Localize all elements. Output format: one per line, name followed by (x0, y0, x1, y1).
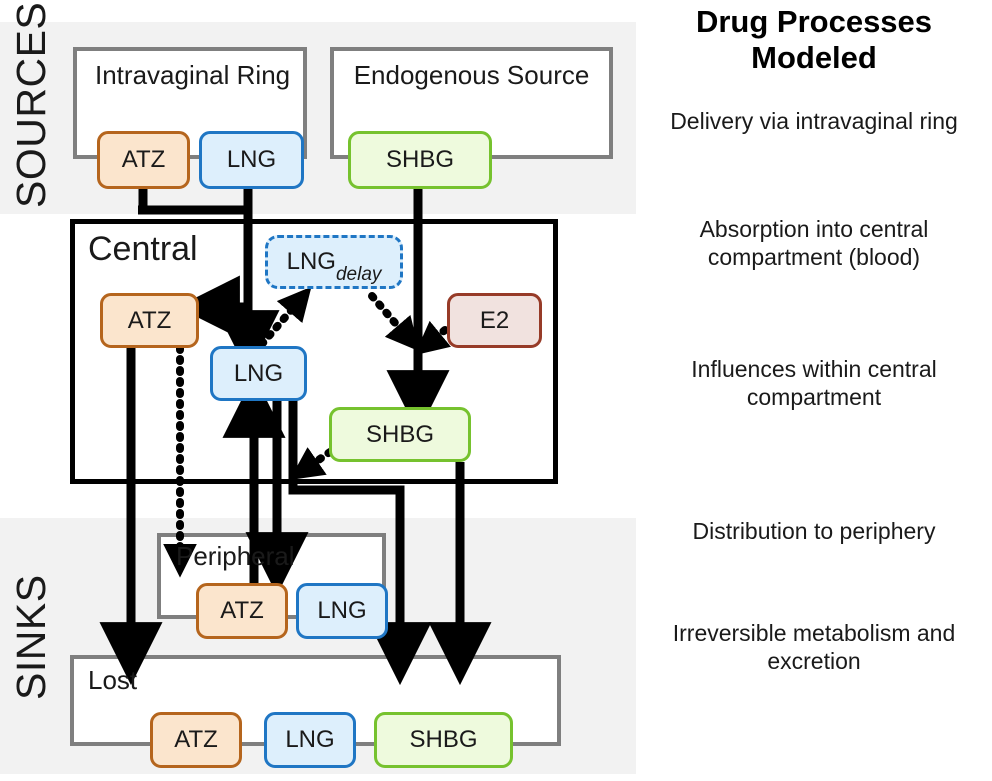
lng-delay-subscript: delay (336, 265, 381, 286)
node-lost-atz[interactable]: ATZ (150, 712, 242, 768)
intravaginal-ring-title: Intravaginal Ring (95, 60, 285, 91)
node-central-lng[interactable]: LNG (210, 346, 307, 401)
caption-absorption: Absorption into central compartment (blo… (636, 216, 992, 271)
diagram-canvas: SOURCES SINKS (0, 0, 992, 781)
lng-delay-base: LNG (287, 250, 336, 274)
node-central-shbg[interactable]: SHBG (329, 407, 471, 462)
node-central-atz[interactable]: ATZ (100, 293, 199, 348)
caption-delivery: Delivery via intravaginal ring (636, 108, 992, 136)
node-central-e2[interactable]: E2 (447, 293, 542, 348)
caption-elimination: Irreversible metabolism and excretion (636, 620, 992, 675)
sinks-band-label: SINKS (8, 574, 55, 700)
endogenous-source-title: Endogenous Source (345, 60, 598, 91)
caption-title: Drug Processes Modeled (642, 4, 986, 75)
sources-band-label: SOURCES (8, 2, 55, 208)
node-lost-lng[interactable]: LNG (264, 712, 356, 768)
peripheral-compartment-title: Peripheral (176, 541, 295, 572)
node-central-lng-delay[interactable]: LNGdelay (265, 235, 403, 289)
node-endogenous-shbg[interactable]: SHBG (348, 131, 492, 189)
caption-distribution: Distribution to periphery (636, 518, 992, 546)
node-lost-shbg[interactable]: SHBG (374, 712, 513, 768)
caption-influences: Influences within central compartment (636, 356, 992, 411)
node-source-atz[interactable]: ATZ (97, 131, 190, 189)
node-peripheral-lng[interactable]: LNG (296, 583, 388, 639)
node-source-lng[interactable]: LNG (199, 131, 304, 189)
caption-column: Drug Processes Modeled Delivery via intr… (636, 0, 992, 781)
central-compartment-title: Central (88, 230, 198, 269)
node-peripheral-atz[interactable]: ATZ (196, 583, 288, 639)
lost-compartment-title: Lost (88, 665, 137, 696)
